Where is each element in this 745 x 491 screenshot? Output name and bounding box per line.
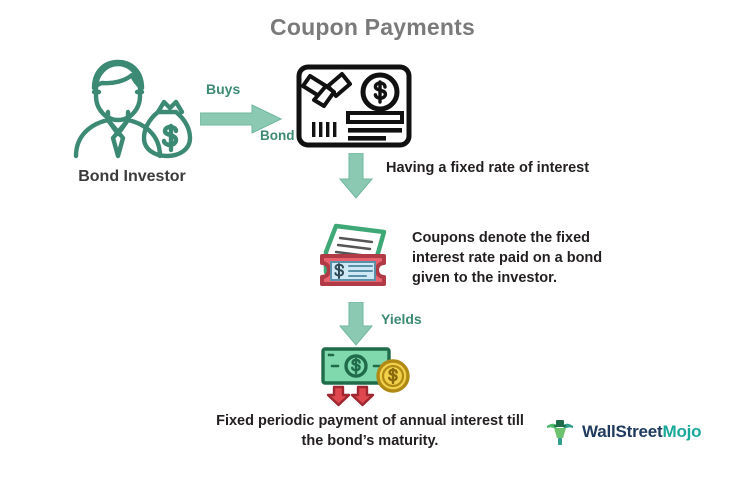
- bond-label: Bond: [260, 128, 295, 143]
- infographic-canvas: Coupon Payments Bond Investor Buys: [0, 0, 745, 491]
- arrow-down-icon: [339, 302, 373, 346]
- bond-investor-label: Bond Investor: [42, 168, 222, 186]
- arrow-down-icon: [339, 153, 373, 199]
- logo-text-mojo: Mojo: [663, 422, 702, 441]
- bond-certificate-icon: [296, 64, 412, 148]
- logo-text-wallstreet: WallStreet: [582, 422, 663, 441]
- coupon-tickets-icon: [318, 218, 398, 288]
- wallstreetmojo-logo: WallStreetMojo: [545, 417, 701, 447]
- yields-label: Yields: [381, 311, 422, 327]
- money-note-coin-icon: [320, 345, 416, 407]
- wallstreetmojo-bull-icon: [545, 417, 575, 447]
- bond-investor-icon: [62, 52, 202, 164]
- buys-label: Buys: [206, 81, 240, 97]
- step-text-coupons: Coupons denote the fixed interest rate p…: [412, 228, 632, 288]
- page-title: Coupon Payments: [0, 14, 745, 41]
- wallstreetmojo-logo-text: WallStreetMojo: [582, 422, 701, 442]
- step-text-fixed-rate: Having a fixed rate of interest: [386, 158, 616, 178]
- conclusion-text: Fixed periodic payment of annual interes…: [205, 411, 535, 451]
